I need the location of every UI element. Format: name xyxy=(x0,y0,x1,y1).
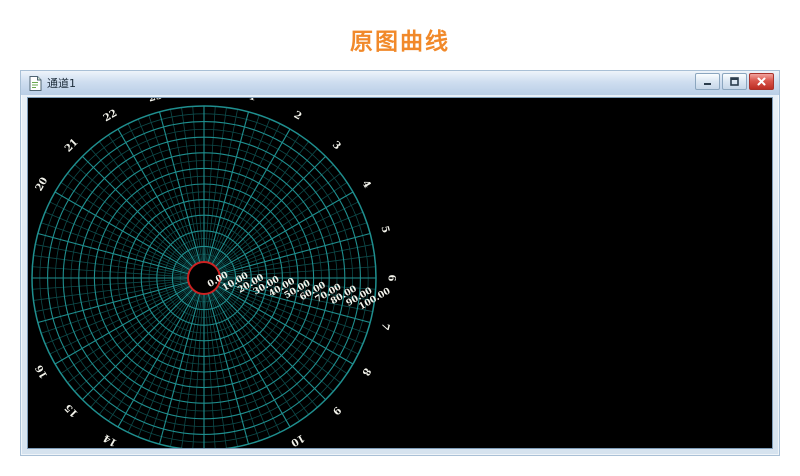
hour-label: 6 xyxy=(386,275,397,282)
document-icon xyxy=(29,76,42,91)
window-titlebar[interactable]: 通道1 xyxy=(21,71,779,95)
titlebar-left: 通道1 xyxy=(21,75,76,91)
polar-chart-svg: 01234567891011121314151617181920212223 0… xyxy=(28,98,773,449)
close-button[interactable] xyxy=(749,73,774,90)
page-title: 原图曲线 xyxy=(0,22,800,56)
window-controls xyxy=(695,73,774,90)
window-title-text: 通道1 xyxy=(47,75,76,91)
chart-window: 通道1 xyxy=(20,70,780,456)
maximize-button[interactable] xyxy=(722,73,747,90)
polar-chart-canvas[interactable]: 01234567891011121314151617181920212223 0… xyxy=(27,97,773,449)
minimize-button[interactable] xyxy=(695,73,720,90)
